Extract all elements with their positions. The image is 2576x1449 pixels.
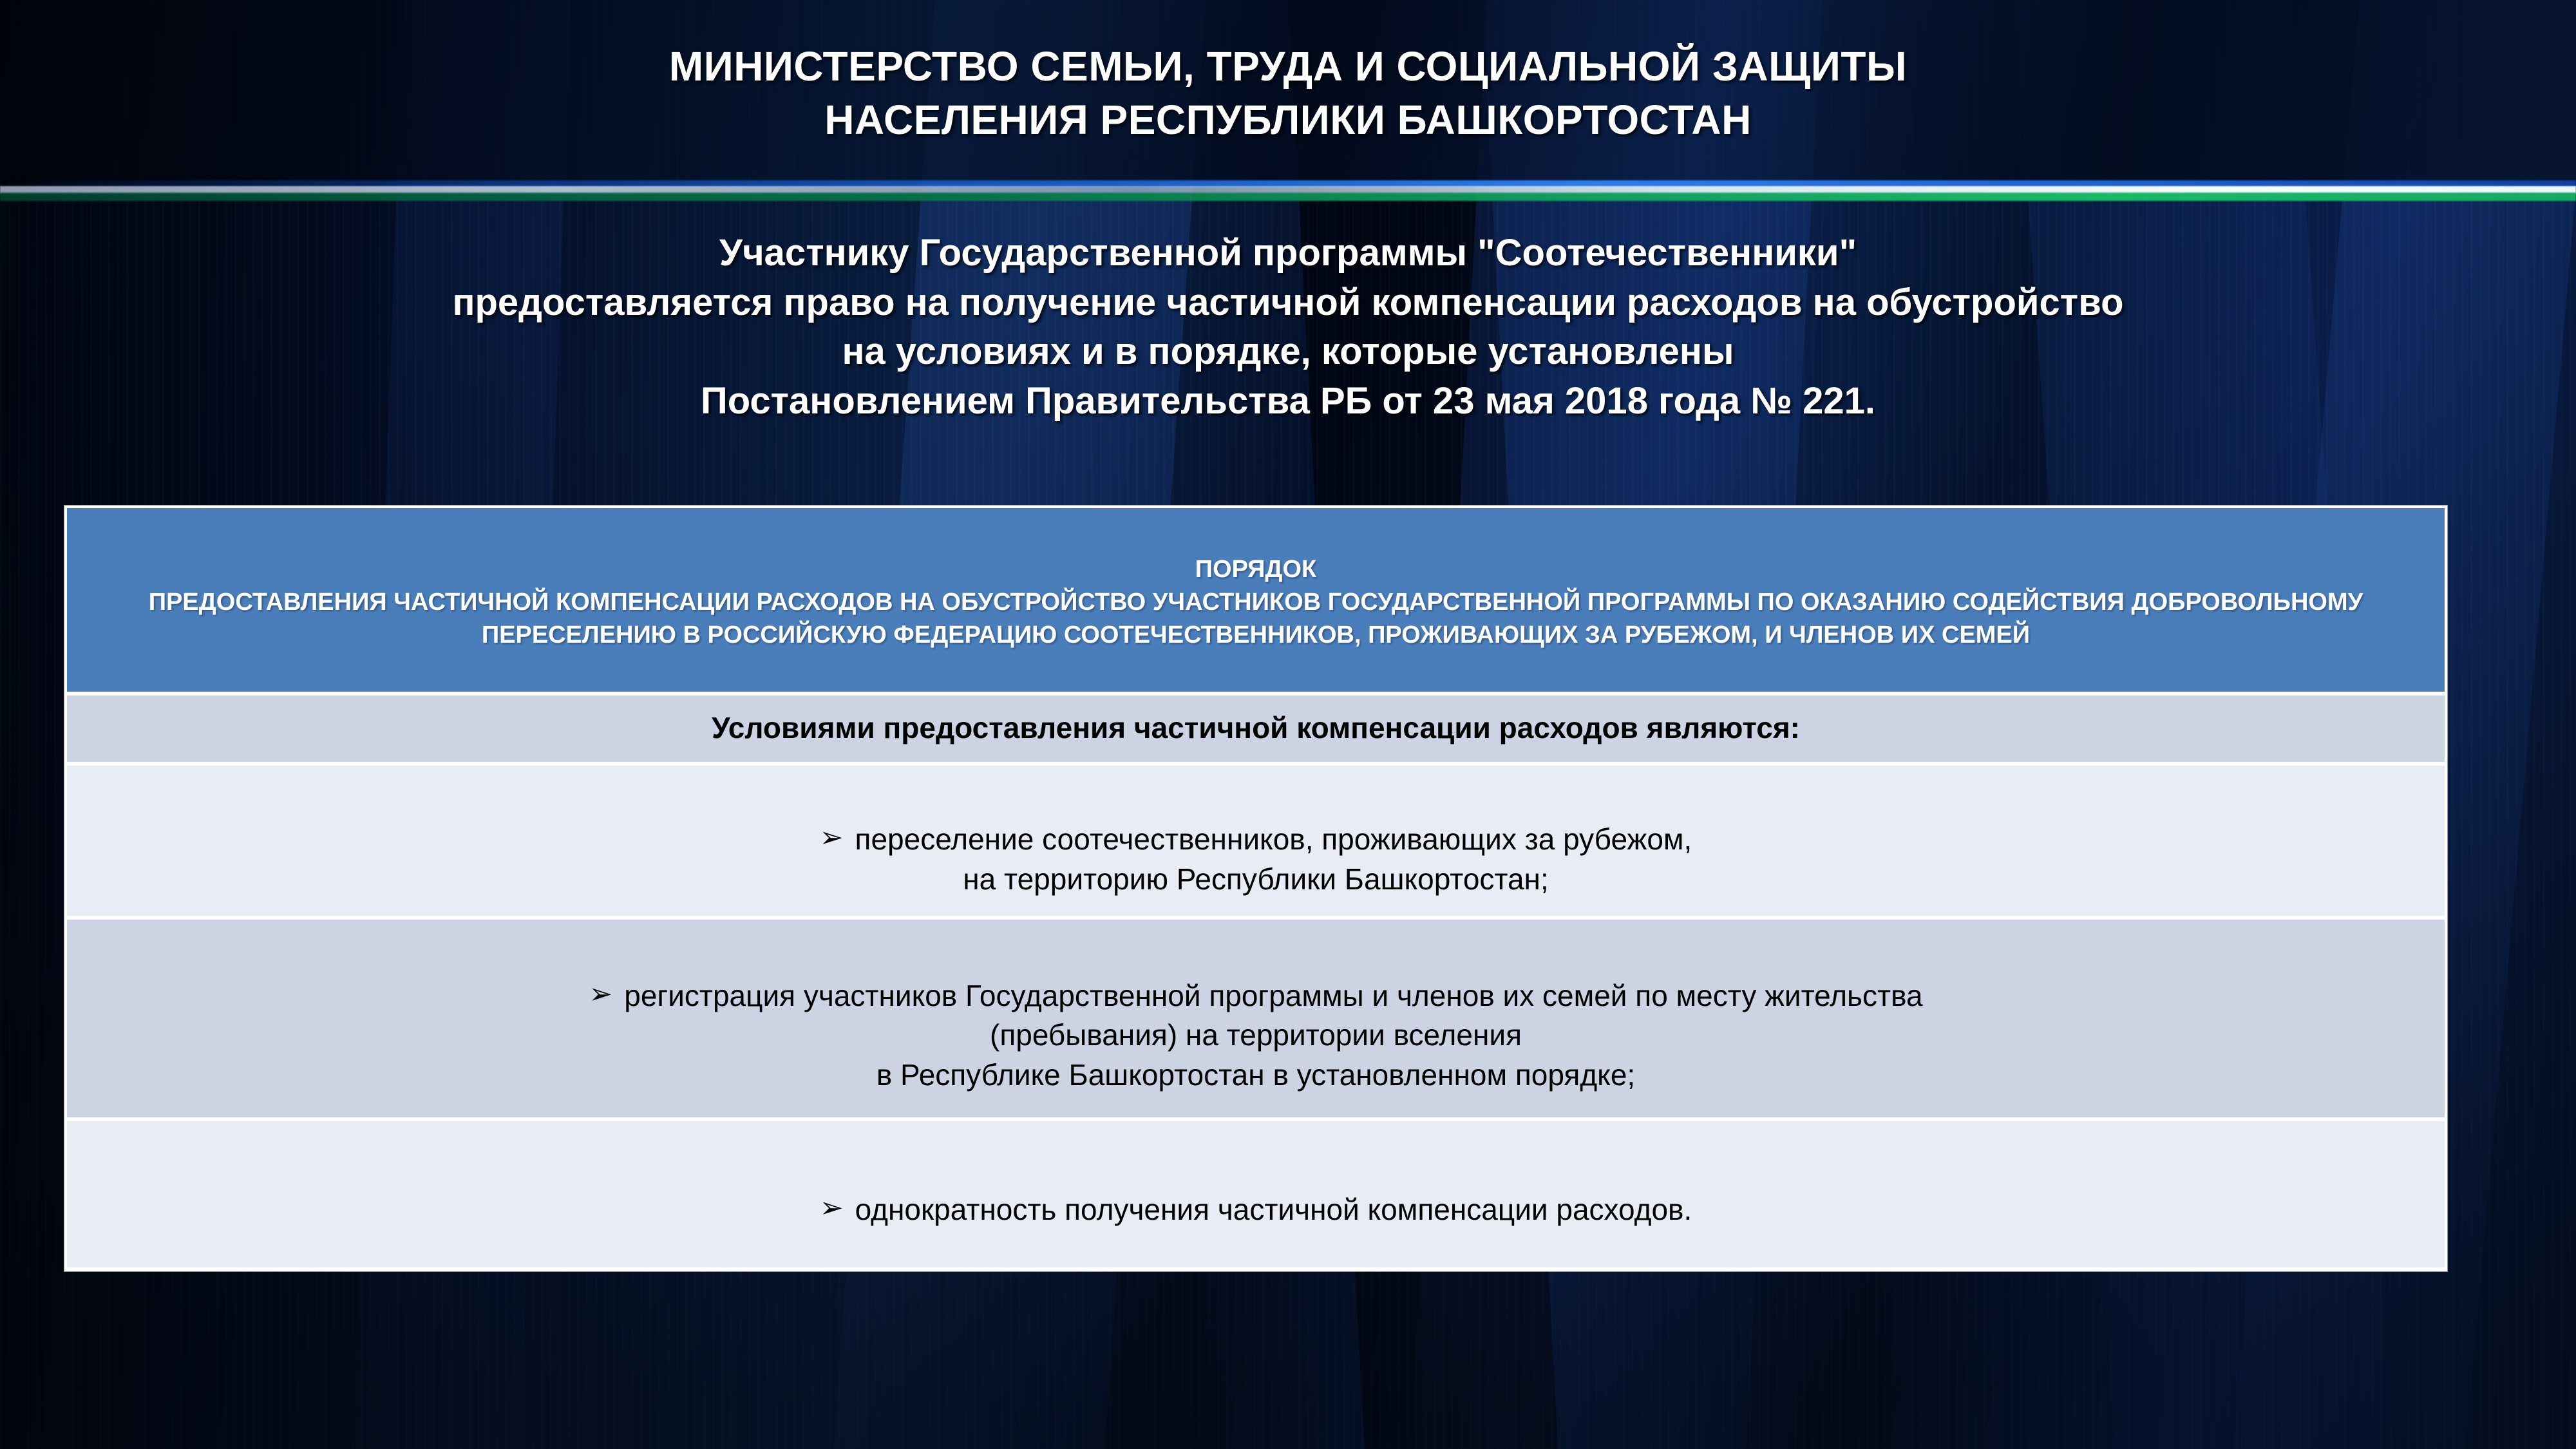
arrow-bullet-icon: ➢ [589,980,612,1009]
table-row: ➢регистрация участников Государственной … [67,916,2445,1117]
table-header-poryadok: ПОРЯДОК ПРЕДОСТАВЛЕНИЯ ЧАСТИЧНОЙ КОМПЕНС… [67,508,2445,692]
bullet-text: переселение соотечественников, проживающ… [855,822,1692,896]
stripe-green-line [0,193,2576,201]
ministry-title: МИНИСТЕРСТВО СЕМЬИ, ТРУДА И СОЦИАЛЬНОЙ З… [0,40,2576,147]
conditions-title-row: Условиями предоставления частичной компе… [67,692,2445,762]
table-row: ➢однократность получения частичной компе… [67,1117,2445,1267]
arrow-bullet-icon: ➢ [820,1194,844,1222]
content-table: ПОРЯДОК ПРЕДОСТАВЛЕНИЯ ЧАСТИЧНОЙ КОМПЕНС… [64,506,2447,1271]
arrow-bullet-icon: ➢ [820,824,844,852]
slide-root: МИНИСТЕРСТВО СЕМЬИ, ТРУДА И СОЦИАЛЬНОЙ З… [0,0,2576,1449]
bullet-text: однократность получения частичной компен… [855,1193,1692,1226]
bullet-text: регистрация участников Государственной п… [624,979,1922,1092]
table-row: ➢переселение соотечественников, проживаю… [67,762,2445,916]
decorative-stripe [0,178,2576,205]
subtitle-paragraph: Участнику Государственной программы "Соо… [39,229,2537,426]
